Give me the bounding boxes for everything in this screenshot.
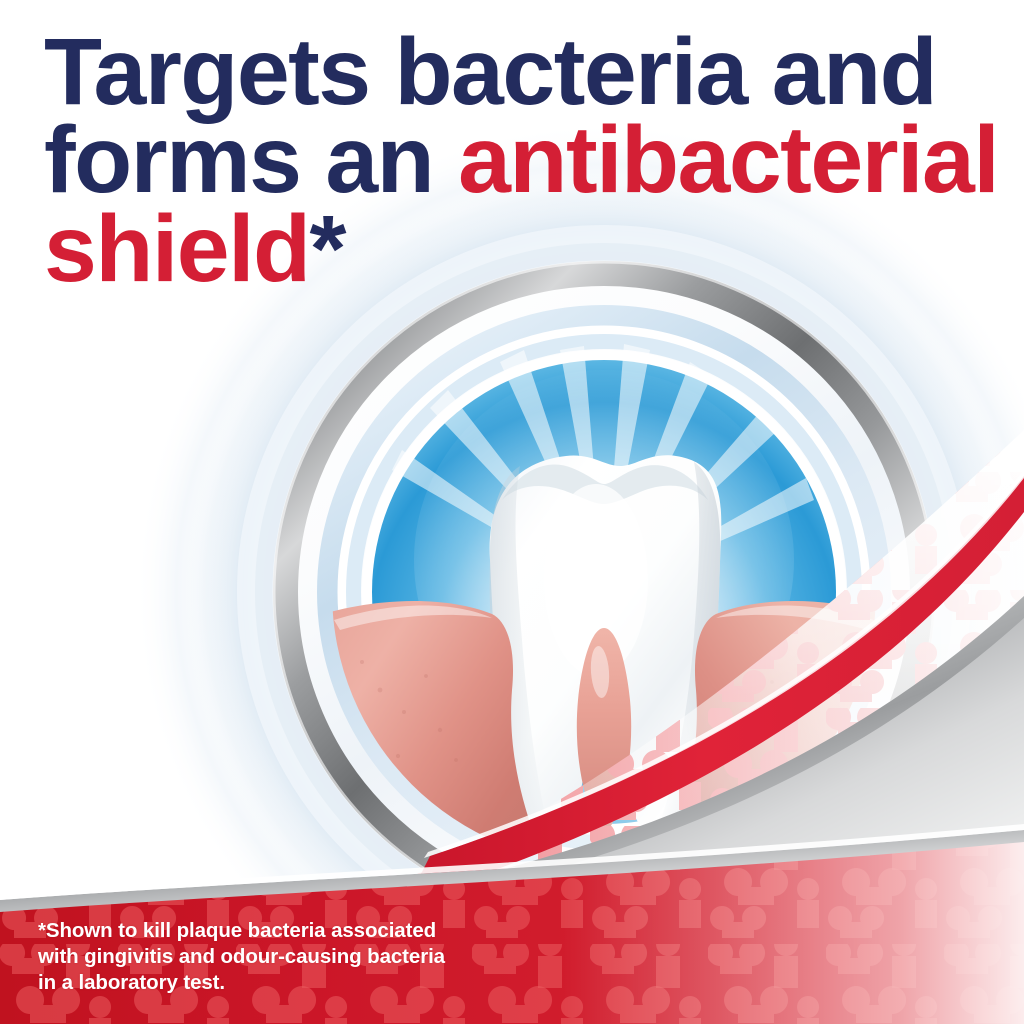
footnote-line-1: *Shown to kill plaque bacteria associate…	[38, 918, 445, 944]
headline-line-2-red: antibacterial	[458, 107, 998, 213]
advertisement-canvas: Targets bacteria and forms an antibacter…	[0, 0, 1024, 1024]
headline-line-2: forms an antibacterial	[44, 116, 1004, 204]
headline-asterisk: *	[310, 196, 345, 302]
footnote-band: *Shown to kill plaque bacteria associate…	[0, 896, 1024, 1024]
headline-line-3: shield*	[44, 205, 1004, 293]
headline-line-3-red: shield	[44, 196, 310, 302]
footnote-text: *Shown to kill plaque bacteria associate…	[38, 918, 445, 997]
footnote-line-3: in a laboratory test.	[38, 970, 445, 996]
headline-line-1: Targets bacteria and	[44, 28, 1004, 116]
headline: Targets bacteria and forms an antibacter…	[44, 28, 1004, 293]
footnote-line-2: with gingivitis and odour-causing bacter…	[38, 944, 445, 970]
